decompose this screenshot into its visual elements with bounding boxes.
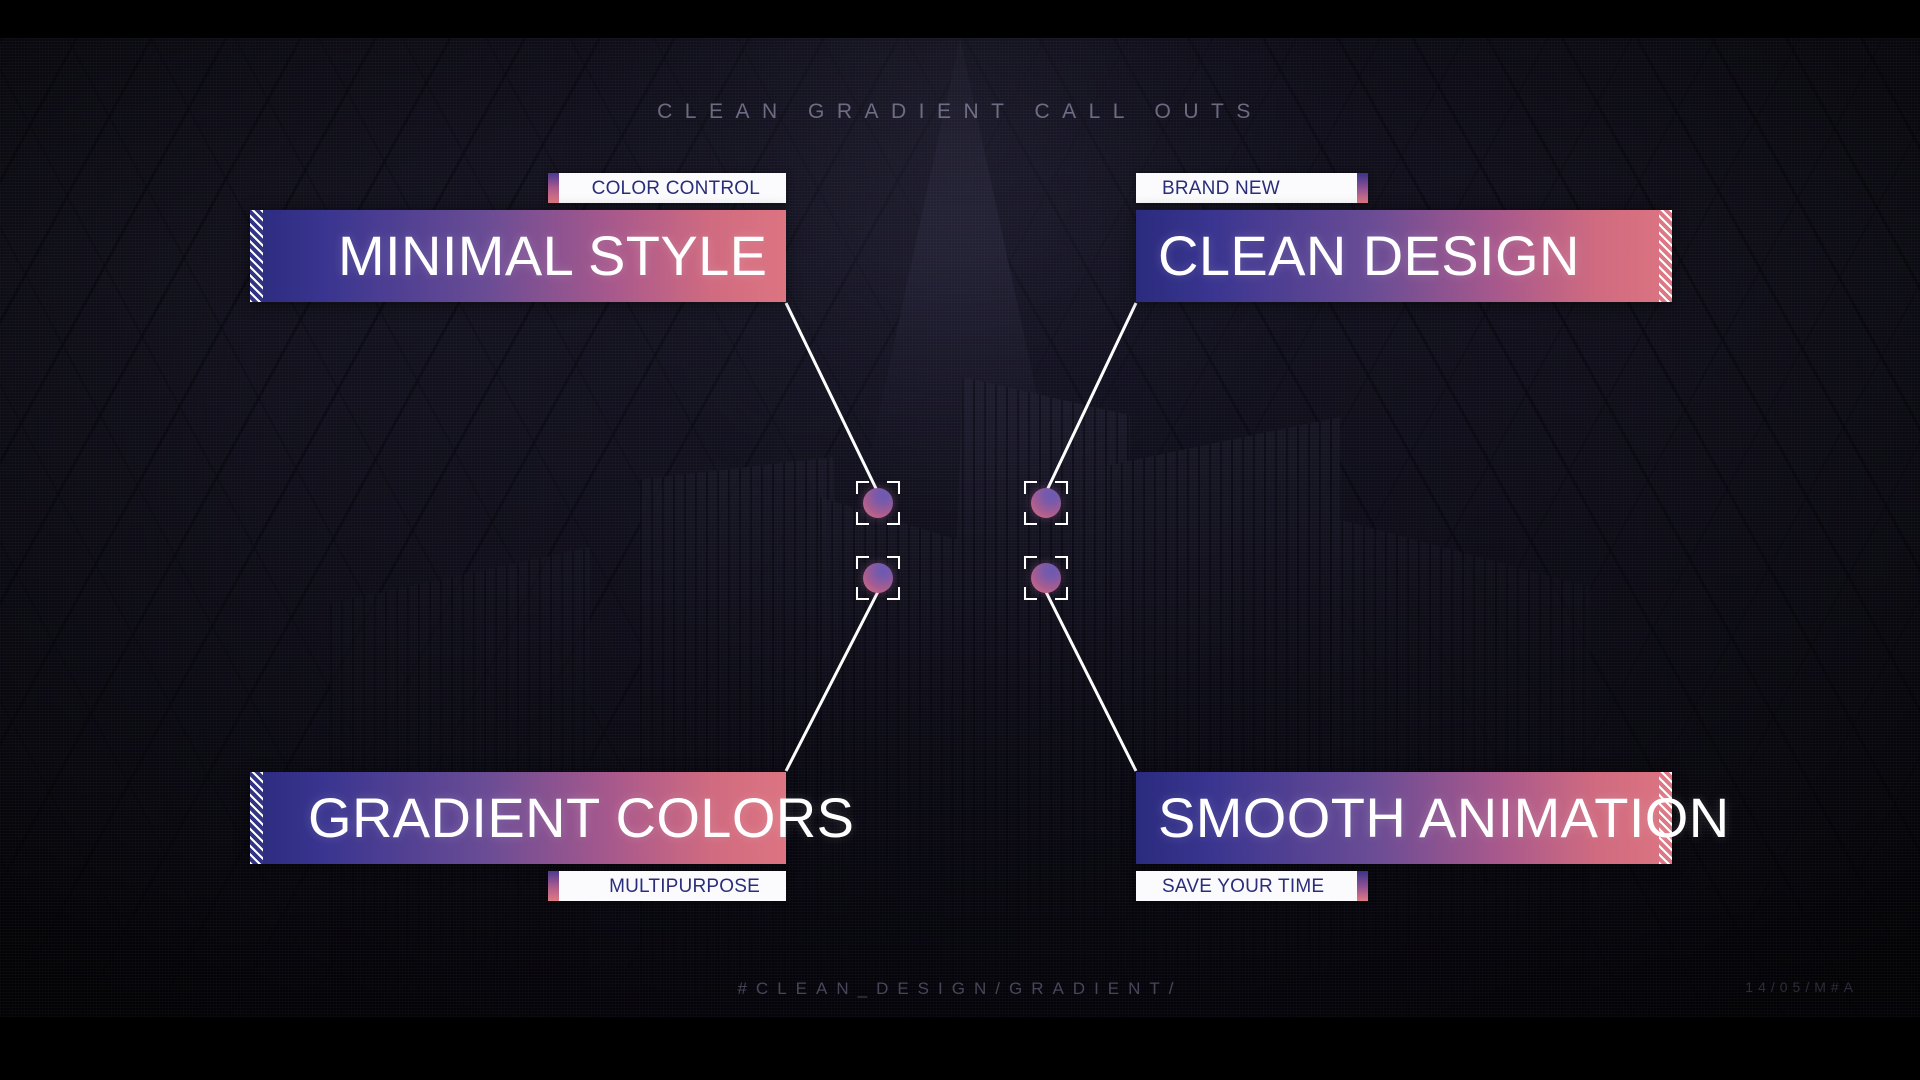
video-stage: CLEAN GRADIENT CALL OUTS COLOR CONTROL M… [0, 0, 1920, 1080]
bar-clean-design[interactable]: CLEAN DESIGN [1136, 210, 1672, 302]
callout-title-minimal-style: MINIMAL STYLE [338, 228, 767, 284]
anchor-point-gradient-colors[interactable] [856, 556, 900, 600]
tag-save-your-time-label: SAVE YOUR TIME [1162, 877, 1324, 896]
tag-brand-new-label: BRAND NEW [1162, 179, 1280, 198]
page-title: CLEAN GRADIENT CALL OUTS [0, 100, 1920, 124]
footer-date-code: 14/05/M#A [1745, 979, 1858, 995]
hatch-cap-icon [1659, 772, 1672, 864]
bracket-bottom-right-icon [887, 512, 900, 525]
hatch-cap-icon [1659, 210, 1672, 302]
bar-gradient-colors[interactable]: GRADIENT COLORS [250, 772, 786, 864]
bracket-bottom-right-icon [887, 587, 900, 600]
letterbox-top [0, 0, 1920, 38]
letterbox-bottom [0, 1017, 1920, 1080]
callout-title-smooth-animation: SMOOTH ANIMATION [1158, 790, 1730, 846]
tag-color-control-label: COLOR CONTROL [592, 179, 760, 198]
callout-title-gradient-colors: GRADIENT COLORS [308, 790, 854, 846]
bar-smooth-animation[interactable]: SMOOTH ANIMATION [1136, 772, 1672, 864]
callout-minimal-style[interactable]: COLOR CONTROL MINIMAL STYLE [250, 210, 786, 302]
footer-hashtag: #CLEAN_DESIGN/GRADIENT/ [0, 979, 1920, 999]
tag-color-control[interactable]: COLOR CONTROL [548, 173, 786, 203]
callout-title-clean-design: CLEAN DESIGN [1158, 228, 1580, 284]
gradient-dot-icon [1031, 563, 1061, 593]
tag-gradient-strip-icon [548, 173, 559, 203]
callout-smooth-animation[interactable]: SMOOTH ANIMATION SAVE YOUR TIME [1136, 772, 1672, 864]
tag-gradient-strip-icon [548, 871, 559, 901]
anchor-point-minimal-style[interactable] [856, 481, 900, 525]
bracket-bottom-right-icon [1055, 587, 1068, 600]
callout-gradient-colors[interactable]: GRADIENT COLORS MULTIPURPOSE [250, 772, 786, 864]
tag-multipurpose[interactable]: MULTIPURPOSE [548, 871, 786, 901]
tag-save-your-time[interactable]: SAVE YOUR TIME [1136, 871, 1368, 901]
tag-brand-new[interactable]: BRAND NEW [1136, 173, 1368, 203]
anchor-point-clean-design[interactable] [1024, 481, 1068, 525]
bar-minimal-style[interactable]: MINIMAL STYLE [250, 210, 786, 302]
tag-gradient-strip-icon [1357, 871, 1368, 901]
gradient-dot-icon [863, 563, 893, 593]
gradient-dot-icon [863, 488, 893, 518]
anchor-point-smooth-animation[interactable] [1024, 556, 1068, 600]
gradient-dot-icon [1031, 488, 1061, 518]
tag-multipurpose-label: MULTIPURPOSE [609, 877, 760, 896]
hatch-cap-icon [250, 772, 263, 864]
tag-gradient-strip-icon [1357, 173, 1368, 203]
callout-clean-design[interactable]: BRAND NEW CLEAN DESIGN [1136, 210, 1672, 302]
bracket-bottom-right-icon [1055, 512, 1068, 525]
hatch-cap-icon [250, 210, 263, 302]
